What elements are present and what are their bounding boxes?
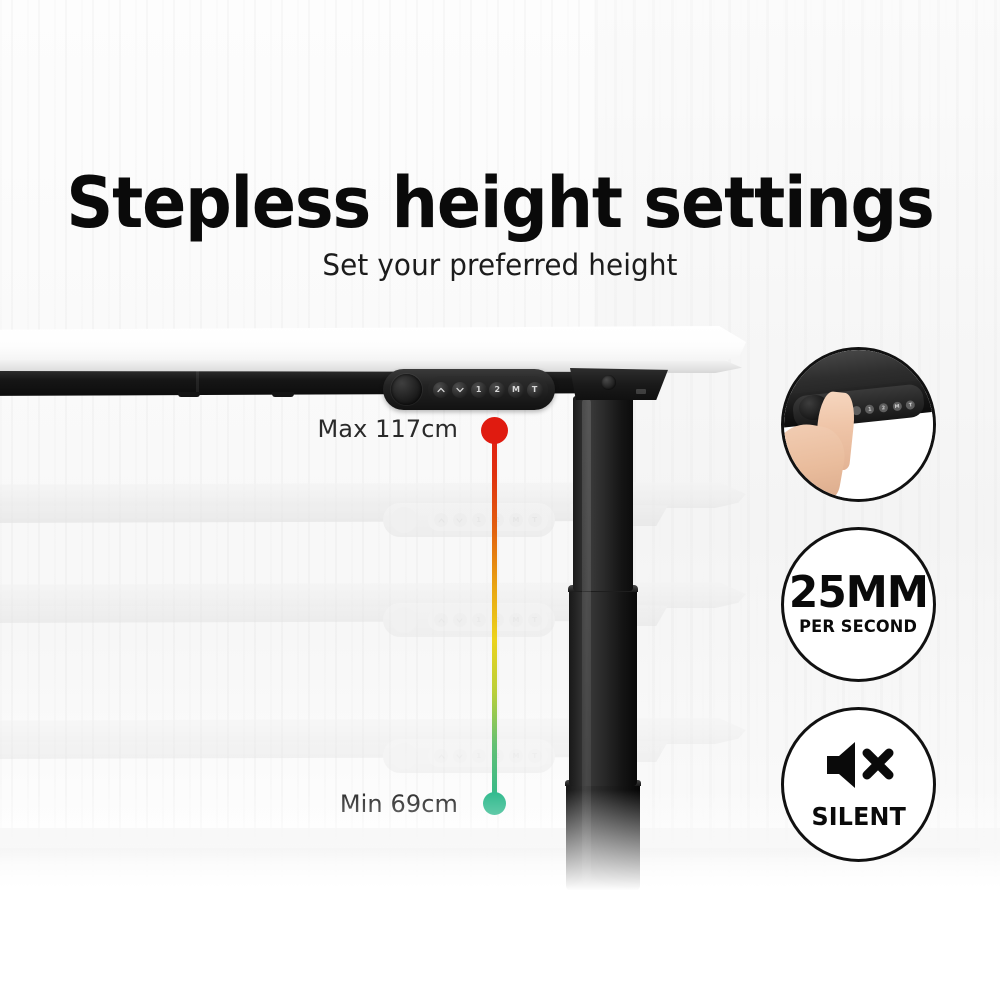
photo-timer-button: T [905, 400, 915, 410]
photo-memory-button: M [892, 402, 902, 412]
height-range-gradient-line [492, 428, 497, 806]
memory-button[interactable]: M [508, 382, 524, 398]
silent-badge: SILENT [781, 707, 936, 862]
touch-control-photo-badge: 1 2 M T [781, 347, 936, 502]
mount-marking [636, 389, 646, 394]
preset-1-button[interactable]: 1 [471, 382, 487, 398]
frame-beam [0, 371, 655, 396]
speed-badge-content: 25MM PER SECOND [784, 530, 933, 679]
frame-bracket-right [272, 392, 294, 397]
preset-2-button[interactable]: 2 [489, 382, 505, 398]
speed-unit: PER SECOND [799, 617, 917, 637]
photo-preset-1-button: 1 [865, 405, 875, 415]
rotary-knob[interactable] [391, 374, 422, 405]
max-height-dot [481, 417, 508, 444]
photo-preset-2-button: 2 [878, 403, 888, 413]
frame-bracket-left [178, 392, 200, 397]
product-feature-image: Stepless height settings Set your prefer… [0, 0, 1000, 1000]
max-height-label: Max 117cm [206, 415, 458, 443]
speaker-mute-icon [821, 739, 897, 796]
mount-bolt [601, 375, 616, 390]
silent-badge-content: SILENT [784, 710, 933, 859]
silent-label: SILENT [811, 802, 906, 831]
speed-badge: 25MM PER SECOND [781, 527, 936, 682]
desktop-surface [0, 326, 746, 364]
control-button-strip: 1 2 M T [428, 376, 548, 403]
leg-mount-bracket [570, 368, 668, 400]
timer-button[interactable]: T [527, 382, 543, 398]
up-chevron-icon[interactable] [433, 382, 449, 398]
speed-value: 25MM [789, 572, 928, 614]
down-chevron-icon[interactable] [452, 382, 468, 398]
